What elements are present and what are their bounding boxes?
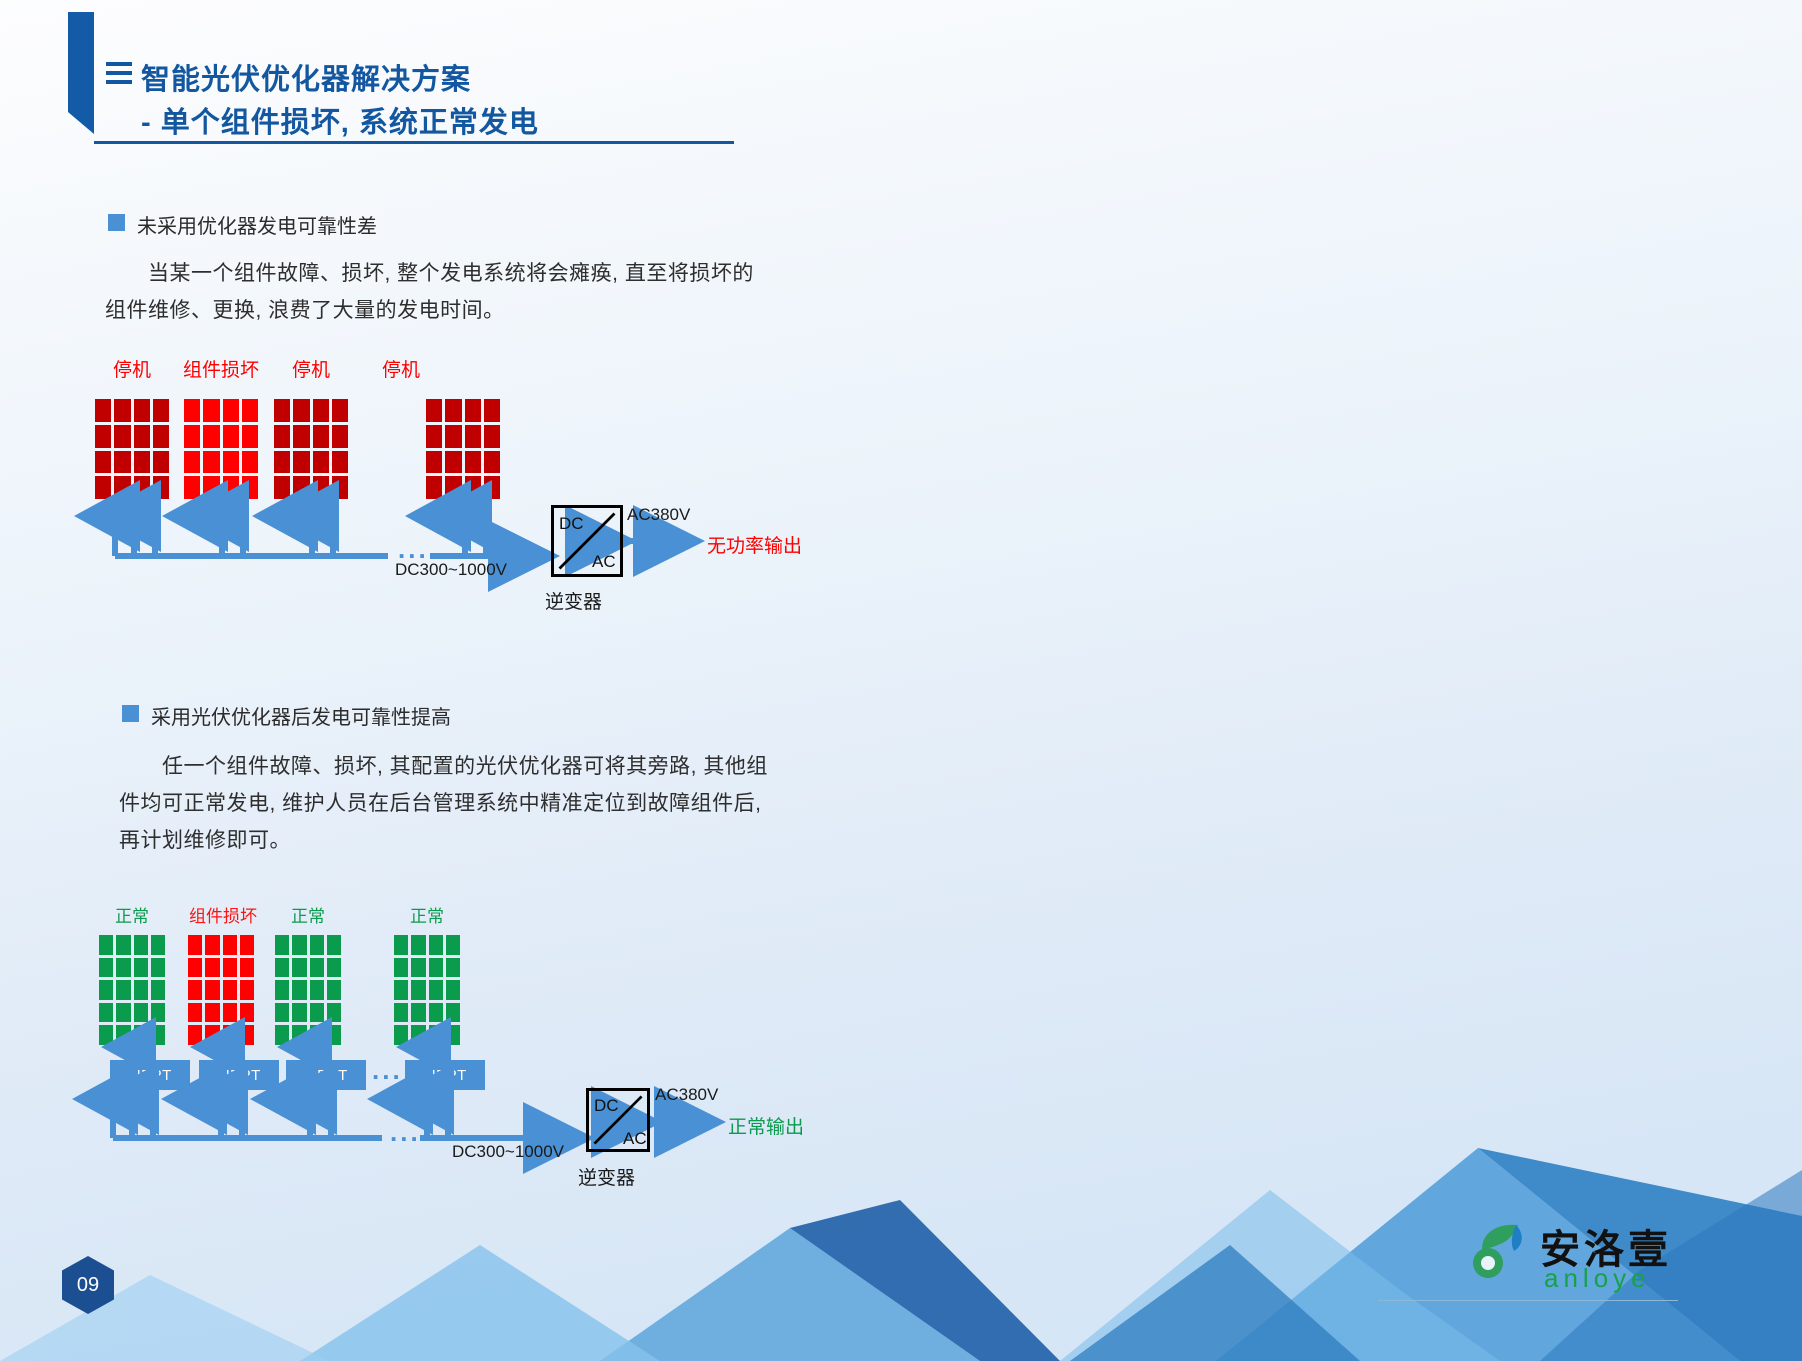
section2-ac-voltage-label: AC380V bbox=[655, 1085, 718, 1105]
logo-leaf-icon bbox=[1468, 1215, 1538, 1285]
logo-divider bbox=[1378, 1300, 1678, 1301]
section2-wiring bbox=[0, 0, 1802, 1361]
slide-page: 智能光伏优化器解决方案 - 单个组件损坏, 系统正常发电 未采用优化器发电可靠性… bbox=[0, 0, 1802, 1361]
company-logo: 安洛壹 anloye bbox=[1468, 1215, 1538, 1290]
section2-string-ellipsis: ... bbox=[390, 1117, 421, 1148]
section2-inverter-caption: 逆变器 bbox=[578, 1163, 635, 1190]
inverter-box-2: DC AC bbox=[586, 1088, 650, 1152]
section2-output-label: 正常输出 bbox=[728, 1112, 804, 1139]
section2-dc-voltage-label: DC300~1000V bbox=[452, 1142, 564, 1162]
inverter2-ac-label: AC bbox=[623, 1129, 647, 1149]
logo-english-name: anloye bbox=[1544, 1263, 1651, 1294]
inverter2-dc-label: DC bbox=[594, 1096, 619, 1116]
